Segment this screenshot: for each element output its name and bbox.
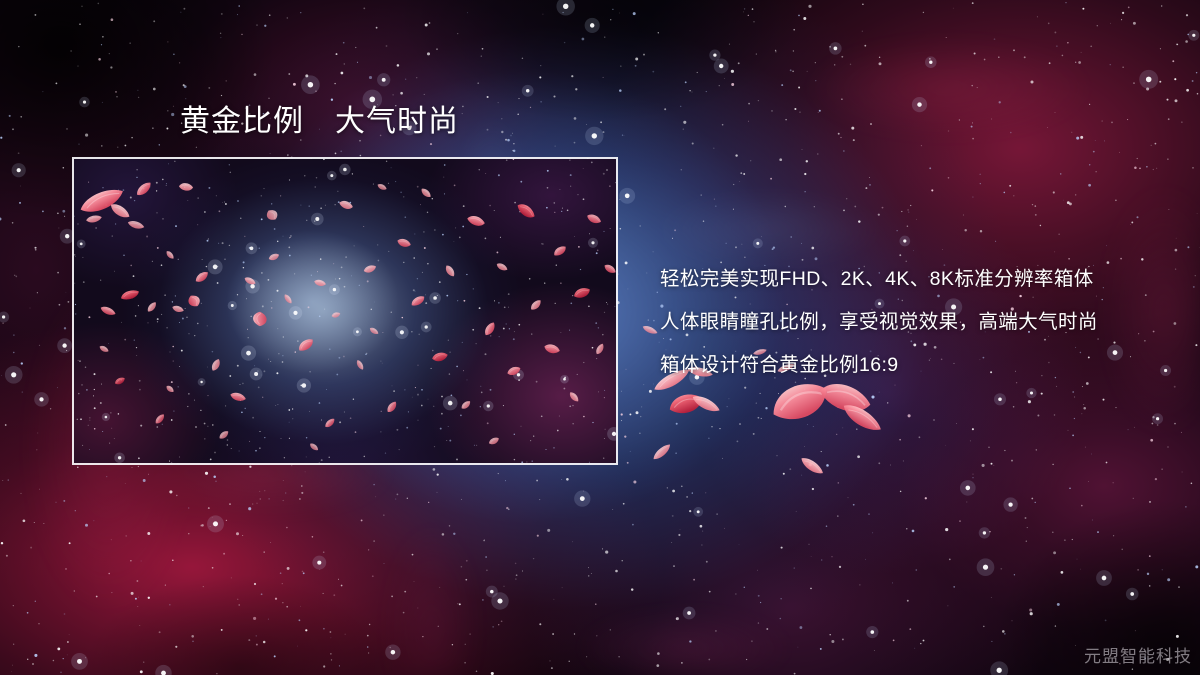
body-line-3: 箱体设计符合黄金比例16:9 [660,344,1160,387]
body-line-2: 人体眼睛瞳孔比例，享受视觉效果，高端大气时尚 [660,301,1160,344]
slide-body-text: 轻松完美实现FHD、2K、4K、8K标准分辨率箱体 人体眼睛瞳孔比例，享受视觉效… [660,258,1160,387]
display-panel-petals [74,159,618,465]
brand-watermark: 元盟智能科技 [1084,642,1192,667]
body-line-1: 轻松完美实现FHD、2K、4K、8K标准分辨率箱体 [660,258,1160,301]
presentation-slide: 黄金比例 大气时尚 轻松完美实现FHD、2K、4K、8K标准分辨率箱体 人体眼睛… [0,0,1200,675]
display-panel-frame [72,157,618,465]
slide-title: 黄金比例 大气时尚 [180,103,459,141]
